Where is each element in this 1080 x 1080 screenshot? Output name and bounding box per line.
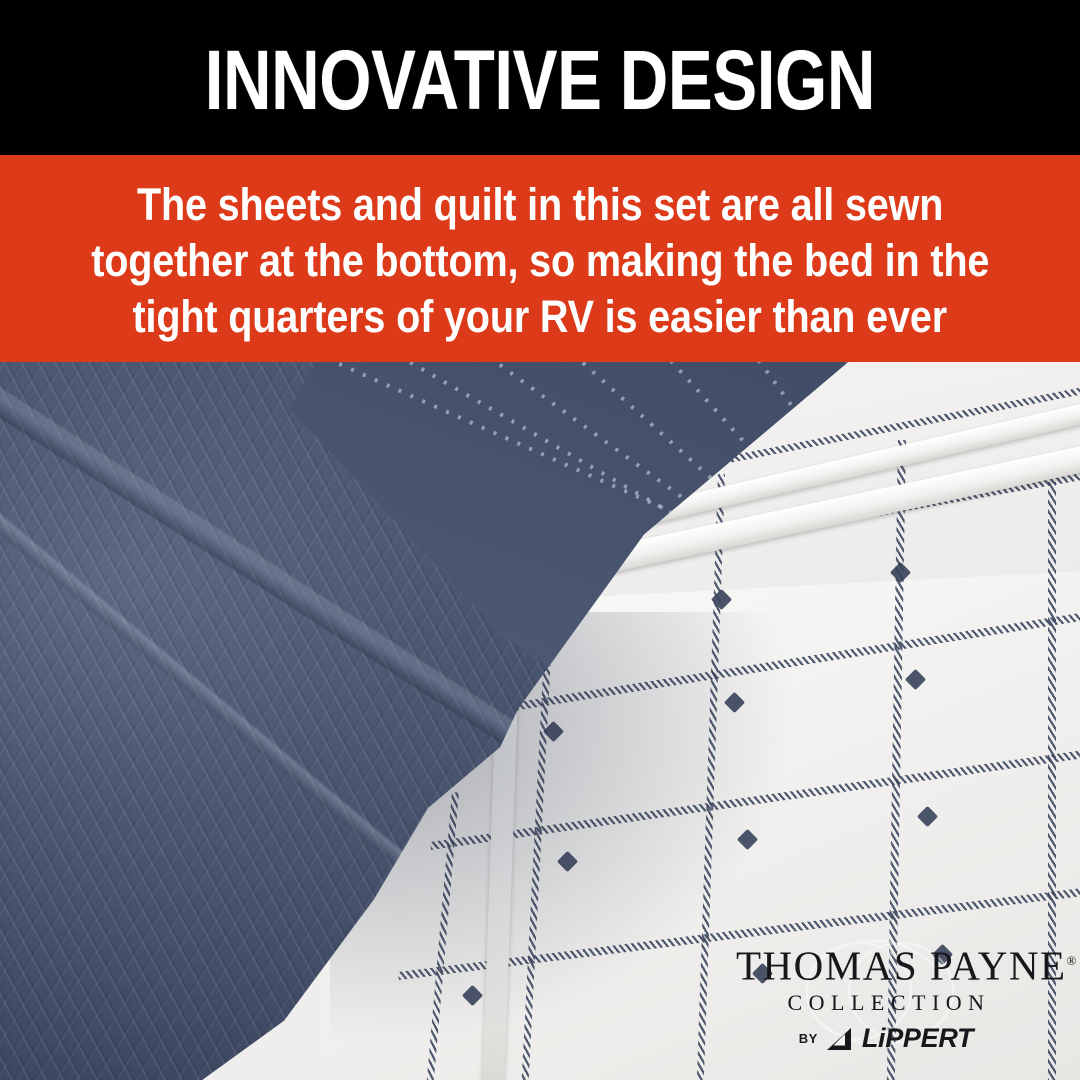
- callout-line-3: tight quarters of your RV is easier than…: [133, 289, 947, 345]
- lippert-chevron-icon: [825, 1026, 855, 1052]
- logo-brand-name: THOMAS PAYNE®: [736, 939, 1036, 988]
- plaid-line-v: [1048, 482, 1056, 1080]
- page-title: INNOVATIVE DESIGN: [205, 34, 875, 122]
- logo-collection-text: COLLECTION: [736, 988, 1036, 1018]
- callout-line-2: together at the bottom, so making the be…: [91, 233, 989, 289]
- registered-trademark-icon: ®: [1067, 953, 1077, 968]
- callout-band: The sheets and quilt in this set are all…: [0, 155, 1080, 362]
- logo-lippert-text: LiPPERT: [862, 1025, 973, 1052]
- logo-brand-text: THOMAS PAYNE: [736, 943, 1067, 989]
- header-band: INNOVATIVE DESIGN: [0, 0, 1080, 155]
- product-photo: THOMAS PAYNE® COLLECTION BY LiPPERT: [0, 362, 1080, 1080]
- brand-logo: THOMAS PAYNE® COLLECTION BY LiPPERT: [736, 939, 1036, 1052]
- logo-parent-brand-row: BY LiPPERT: [736, 1025, 1036, 1052]
- callout-line-1: The sheets and quilt in this set are all…: [137, 177, 943, 233]
- logo-by-label: BY: [799, 1031, 818, 1046]
- marketing-image: INNOVATIVE DESIGN The sheets and quilt i…: [0, 0, 1080, 1080]
